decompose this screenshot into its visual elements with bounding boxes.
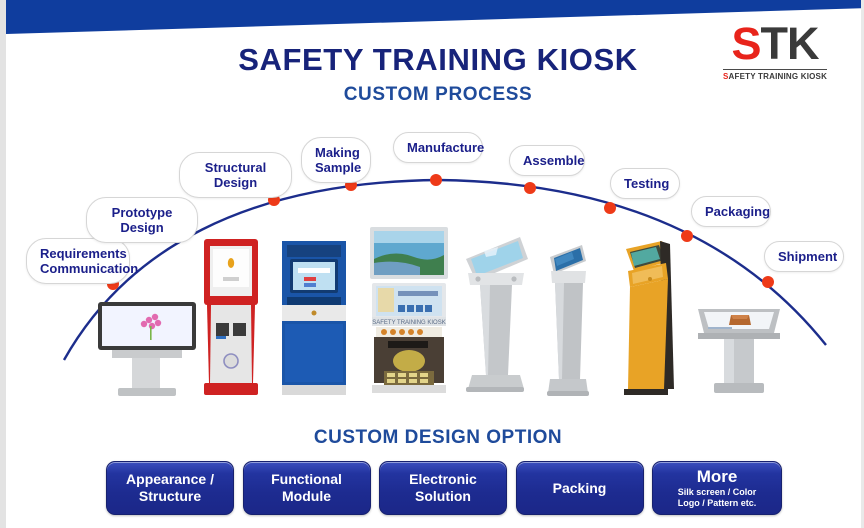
product-dual-screen-advertising-kiosk: SAFETY TRAINING KIOSK: [368, 225, 450, 397]
logo-divider: [723, 69, 827, 70]
process-step-pill[interactable]: Manufacture: [393, 132, 483, 163]
logo-tagline: SAFETY TRAINING KIOSK: [723, 72, 827, 81]
process-step-pill[interactable]: Shipment: [764, 241, 844, 272]
process-step-pill[interactable]: Requirements Communication: [26, 238, 130, 284]
product-silver-table-kiosk: [694, 293, 784, 397]
page-subtitle: CUSTOM PROCESS: [6, 84, 864, 106]
custom-option-more-button[interactable]: MoreSilk screen / Color Logo / Pattern e…: [652, 461, 782, 515]
process-step-pill[interactable]: Structural Design: [179, 152, 292, 198]
product-silver-angled-kiosk: [458, 233, 530, 397]
more-button-subtitle: Silk screen / Color Logo / Pattern etc.: [678, 487, 757, 509]
product-orange-keyboard-kiosk: [614, 239, 676, 397]
custom-option-button[interactable]: Functional Module: [243, 461, 371, 515]
process-step-pill[interactable]: Assemble: [509, 145, 585, 176]
logo-letter-s: S: [731, 18, 760, 69]
brand-logo: STK SAFETY TRAINING KIOSK: [723, 20, 827, 81]
custom-option-button[interactable]: Appearance / Structure: [106, 461, 234, 515]
product-red-white-standing-kiosk: [202, 237, 260, 397]
slide-canvas: STK SAFETY TRAINING KIOSK SAFETY TRAININ…: [0, 0, 864, 528]
product-white-table-touch-kiosk: [94, 300, 200, 398]
process-step-dot: [604, 202, 616, 214]
more-button-title: More: [697, 467, 738, 486]
process-step-pill[interactable]: Prototype Design: [86, 197, 198, 243]
logo-letters-tk: TK: [761, 18, 819, 69]
process-step-pill[interactable]: Testing: [610, 168, 680, 199]
logo-tagline-rest: AFETY TRAINING KIOSK: [729, 72, 828, 81]
process-step-pill[interactable]: Making Sample: [301, 137, 371, 183]
custom-design-option-buttons: Appearance / StructureFunctional ModuleE…: [106, 461, 782, 515]
product-blue-payment-kiosk: [282, 239, 346, 397]
custom-design-option-title: CUSTOM DESIGN OPTION: [6, 427, 864, 449]
custom-option-button[interactable]: Electronic Solution: [379, 461, 507, 515]
process-step-dot: [524, 182, 536, 194]
process-step-pill[interactable]: Packaging: [691, 196, 771, 227]
custom-option-button[interactable]: Packing: [516, 461, 644, 515]
logo-wordmark: STK: [723, 20, 827, 67]
product-silver-slim-kiosk: [542, 243, 590, 397]
svg-text:SAFETY TRAINING KIOSK: SAFETY TRAINING KIOSK: [372, 320, 445, 326]
process-step-dot: [430, 174, 442, 186]
